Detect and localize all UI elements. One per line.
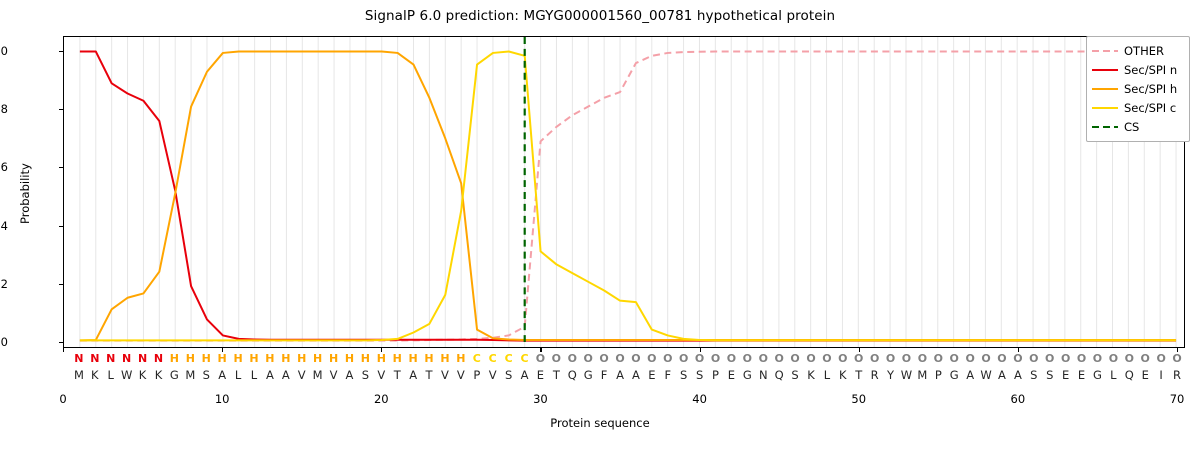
residue-annotation: O <box>647 352 656 366</box>
residue-letter: E <box>1062 368 1069 382</box>
residue-annotation: O <box>1093 352 1102 366</box>
residue-letter: R <box>1173 368 1181 382</box>
residue-letter: V <box>298 368 306 382</box>
residue-letter: Q <box>568 368 577 382</box>
legend-label: Sec/SPI h <box>1124 82 1177 96</box>
residue-letter: M <box>74 368 84 382</box>
residue-annotation: H <box>361 352 370 366</box>
residue-letter: P <box>712 368 719 382</box>
residue-annotation: O <box>599 352 608 366</box>
y-axis-tick-label: 0.4 <box>0 219 8 233</box>
residue-letter: W <box>901 368 912 382</box>
residue-annotation: O <box>695 352 704 366</box>
residue-letter: S <box>791 368 798 382</box>
residue-letter: R <box>871 368 879 382</box>
residue-annotation: O <box>1172 352 1181 366</box>
residue-annotation: O <box>727 352 736 366</box>
residue-letter: E <box>1078 368 1085 382</box>
residue-letter: V <box>489 368 497 382</box>
residue-annotation: O <box>1045 352 1054 366</box>
legend-item: Sec/SPI h <box>1092 79 1184 98</box>
residue-annotation: C <box>473 352 481 366</box>
residue-letter: A <box>966 368 974 382</box>
residue-letter: S <box>1046 368 1053 382</box>
residue-letter: A <box>632 368 640 382</box>
residue-letter: E <box>648 368 655 382</box>
residue-annotation: N <box>106 352 115 366</box>
residue-annotation: H <box>186 352 195 366</box>
residue-letter: T <box>426 368 433 382</box>
residue-annotation: O <box>584 352 593 366</box>
residue-annotation: H <box>409 352 418 366</box>
legend-swatch <box>1092 64 1118 75</box>
signalp-plot-page: SignalP 6.0 prediction: MGYG000001560_00… <box>0 0 1200 450</box>
residue-annotation: O <box>886 352 895 366</box>
y-axis-label: Probability <box>18 163 32 224</box>
residue-annotation-row: NNNNNNHHHHHHHHHHHHHHHHHHHCCCCOOOOOOOOOOO… <box>0 352 1200 366</box>
residue-letter: A <box>282 368 290 382</box>
legend: OTHER Sec/SPI n Sec/SPI h Sec/SPI c CS <box>1086 36 1190 142</box>
residue-annotation: C <box>489 352 497 366</box>
residue-letter: K <box>839 368 847 382</box>
residue-letter: A <box>1014 368 1022 382</box>
x-axis-tick-label: 30 <box>533 392 548 406</box>
residue-letter: T <box>855 368 862 382</box>
legend-item: OTHER <box>1092 41 1184 60</box>
residue-annotation: H <box>313 352 322 366</box>
residue-annotation: O <box>981 352 990 366</box>
y-axis-tick-label: 1.0 <box>0 44 8 58</box>
residue-letter: P <box>935 368 942 382</box>
residue-letter: L <box>1110 368 1116 382</box>
residue-letter: F <box>664 368 671 382</box>
residue-annotation: O <box>536 352 545 366</box>
legend-label: CS <box>1124 120 1139 134</box>
residue-letter: V <box>457 368 465 382</box>
residue-letter: Q <box>1125 368 1134 382</box>
residue-letter: S <box>362 368 369 382</box>
x-axis-label: Protein sequence <box>0 416 1200 430</box>
residue-letter: Q <box>775 368 784 382</box>
residue-annotation: H <box>424 352 433 366</box>
residue-annotation: O <box>790 352 799 366</box>
residue-annotation: N <box>74 352 83 366</box>
residue-annotation: H <box>265 352 274 366</box>
residue-annotation: N <box>90 352 99 366</box>
residue-letter: T <box>394 368 401 382</box>
legend-label: OTHER <box>1124 44 1164 58</box>
residue-annotation: O <box>1077 352 1086 366</box>
residue-letter: A <box>616 368 624 382</box>
residue-letter: L <box>235 368 241 382</box>
residue-letter: M <box>917 368 927 382</box>
residue-letter: L <box>251 368 257 382</box>
residue-annotation: O <box>1156 352 1165 366</box>
residue-annotation: O <box>918 352 927 366</box>
residue-letter: N <box>759 368 768 382</box>
residue-sequence-row: MKLWKKGMSALLAAVMVASVTATVVPVSAETQGFAAEFSS… <box>0 368 1200 382</box>
residue-letter: L <box>108 368 114 382</box>
residue-annotation: O <box>568 352 577 366</box>
residue-letter: G <box>950 368 959 382</box>
residue-annotation: C <box>520 352 528 366</box>
residue-annotation: N <box>138 352 147 366</box>
x-axis-tick-label: 10 <box>215 392 230 406</box>
residue-annotation: H <box>218 352 227 366</box>
residue-annotation: H <box>202 352 211 366</box>
residue-letter: A <box>218 368 226 382</box>
residue-letter: G <box>170 368 179 382</box>
residue-annotation: O <box>806 352 815 366</box>
residue-letter: A <box>998 368 1006 382</box>
residue-letter: L <box>824 368 830 382</box>
residue-annotation: O <box>679 352 688 366</box>
residue-annotation: H <box>329 352 338 366</box>
x-axis-tick-label: 20 <box>374 392 389 406</box>
residue-letter: E <box>728 368 735 382</box>
residue-letter: K <box>91 368 99 382</box>
residue-letter: S <box>680 368 687 382</box>
residue-annotation: O <box>743 352 752 366</box>
residue-annotation: H <box>345 352 354 366</box>
legend-item: CS <box>1092 117 1184 136</box>
residue-letter: S <box>1030 368 1037 382</box>
residue-letter: E <box>1142 368 1149 382</box>
residue-annotation: O <box>1013 352 1022 366</box>
residue-annotation: O <box>1141 352 1150 366</box>
residue-annotation: O <box>965 352 974 366</box>
y-axis-tick-label: 0.0 <box>0 335 8 349</box>
residue-annotation: H <box>297 352 306 366</box>
residue-letter: K <box>139 368 147 382</box>
residue-letter: E <box>537 368 544 382</box>
residue-letter: P <box>473 368 480 382</box>
residue-annotation: O <box>711 352 720 366</box>
data-series-layer <box>64 37 1184 347</box>
x-axis-tick-label: 50 <box>851 392 866 406</box>
page-title: SignalP 6.0 prediction: MGYG000001560_00… <box>0 8 1200 24</box>
residue-letter: V <box>441 368 449 382</box>
residue-letter: W <box>980 368 991 382</box>
residue-annotation: O <box>663 352 672 366</box>
residue-annotation: O <box>1061 352 1070 366</box>
residue-letter: T <box>553 368 560 382</box>
residue-annotation: O <box>1125 352 1134 366</box>
residue-letter: S <box>505 368 512 382</box>
legend-item: Sec/SPI n <box>1092 60 1184 79</box>
legend-label: Sec/SPI n <box>1124 63 1177 77</box>
legend-item: Sec/SPI c <box>1092 98 1184 117</box>
residue-letter: W <box>121 368 132 382</box>
residue-annotation: O <box>838 352 847 366</box>
residue-letter: A <box>521 368 529 382</box>
legend-swatch <box>1092 121 1118 132</box>
residue-annotation: O <box>615 352 624 366</box>
residue-letter: G <box>743 368 752 382</box>
residue-annotation: O <box>822 352 831 366</box>
x-axis-tick-label: 60 <box>1011 392 1026 406</box>
residue-annotation: O <box>1029 352 1038 366</box>
residue-letter: V <box>330 368 338 382</box>
residue-letter: A <box>409 368 417 382</box>
x-axis-tick-label: 0 <box>59 392 66 406</box>
residue-annotation: H <box>377 352 386 366</box>
residue-annotation: H <box>233 352 242 366</box>
legend-swatch <box>1092 102 1118 113</box>
residue-annotation: O <box>759 352 768 366</box>
residue-letter: S <box>203 368 210 382</box>
residue-annotation: H <box>170 352 179 366</box>
y-axis-tick-label: 0.8 <box>0 102 8 116</box>
residue-annotation: O <box>1109 352 1118 366</box>
residue-letter: I <box>1159 368 1162 382</box>
residue-letter: A <box>346 368 354 382</box>
residue-annotation: O <box>950 352 959 366</box>
legend-swatch <box>1092 45 1118 56</box>
residue-letter: M <box>185 368 195 382</box>
residue-letter: G <box>584 368 593 382</box>
residue-annotation: H <box>249 352 258 366</box>
residue-letter: V <box>377 368 385 382</box>
x-axis-tick-label: 70 <box>1170 392 1185 406</box>
residue-annotation: H <box>393 352 402 366</box>
residue-annotation: O <box>854 352 863 366</box>
residue-annotation: H <box>456 352 465 366</box>
residue-annotation: C <box>505 352 513 366</box>
residue-annotation: O <box>997 352 1006 366</box>
legend-label: Sec/SPI c <box>1124 101 1176 115</box>
legend-swatch <box>1092 83 1118 94</box>
residue-annotation: N <box>154 352 163 366</box>
y-axis-tick-label: 0.2 <box>0 277 8 291</box>
residue-letter: S <box>696 368 703 382</box>
residue-annotation: O <box>774 352 783 366</box>
plot-area <box>63 36 1185 348</box>
residue-annotation: O <box>934 352 943 366</box>
residue-letter: Y <box>887 368 894 382</box>
residue-letter: G <box>1093 368 1102 382</box>
y-axis-tick-label: 0.6 <box>0 160 8 174</box>
residue-annotation: N <box>122 352 131 366</box>
x-axis-tick-label: 40 <box>692 392 707 406</box>
residue-letter: K <box>807 368 815 382</box>
residue-letter: M <box>313 368 323 382</box>
residue-letter: A <box>266 368 274 382</box>
residue-letter: F <box>601 368 608 382</box>
residue-letter: K <box>155 368 163 382</box>
residue-annotation: H <box>440 352 449 366</box>
residue-annotation: O <box>552 352 561 366</box>
residue-annotation: O <box>902 352 911 366</box>
residue-annotation: H <box>281 352 290 366</box>
residue-annotation: O <box>631 352 640 366</box>
residue-annotation: O <box>870 352 879 366</box>
